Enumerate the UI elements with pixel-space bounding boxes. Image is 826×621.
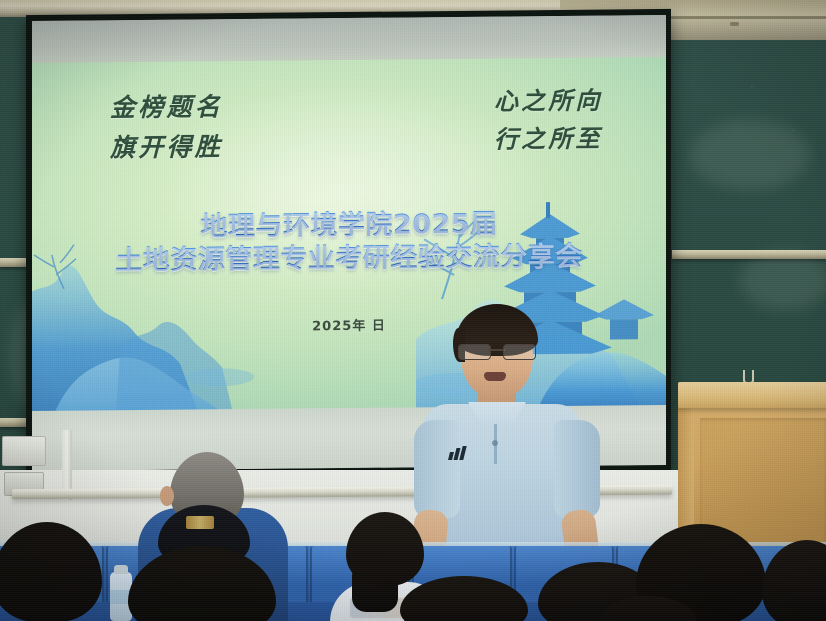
calligraphy-left-line-2: 旗开得胜 (110, 127, 223, 168)
chalk-smudge (690, 120, 810, 190)
water-bottle-cap (114, 565, 128, 574)
chalk-rail-right-upper (672, 250, 826, 259)
lecture-hall-photo: 金榜题名 旗开得胜 心之所向 行之所至 地理与环境学院2025届 土地资源管理专… (0, 0, 826, 621)
wall-socket (2, 436, 46, 466)
chalk-smudge (740, 250, 826, 310)
cap-logo-icon (186, 516, 214, 529)
slide-title-line-2: 土地资源管理专业考研经验交流分享会 (32, 240, 666, 279)
audience-man-ear (160, 486, 174, 506)
presenter-sleeve-right (554, 420, 600, 518)
calligraphy-right-line-1: 心之所向 (494, 82, 602, 121)
presenter-sleeve-left (414, 420, 460, 518)
calligraphy-left-line-1: 金榜题名 (110, 87, 223, 128)
glasses-lens-left (458, 344, 491, 360)
shirt-logo-icon (449, 446, 467, 460)
glasses-lens-right (503, 344, 536, 360)
glasses-icon (458, 344, 536, 358)
beam-screw (730, 22, 739, 26)
podium-top-surface (678, 382, 826, 408)
presenter-mouth (484, 372, 506, 381)
presenter-button (492, 440, 498, 446)
calligraphy-right-line-2: 行之所至 (494, 120, 602, 159)
slide-title-block: 地理与环境学院2025届 土地资源管理专业考研经验交流分享会 (32, 207, 666, 279)
